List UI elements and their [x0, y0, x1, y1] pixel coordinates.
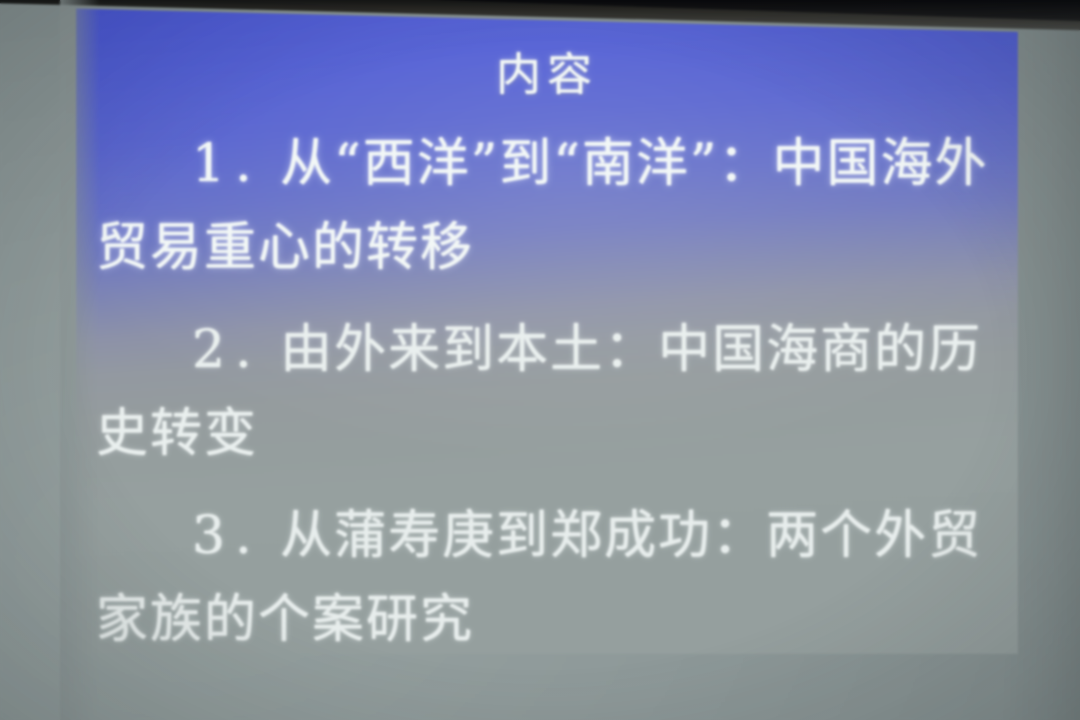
slide-surface — [76, 6, 1018, 654]
projected-slide-photo: 内容 1. 从“西洋”到“南洋”：中国海外贸易重心的转移 2. 由外来到本土：中… — [0, 0, 1080, 720]
